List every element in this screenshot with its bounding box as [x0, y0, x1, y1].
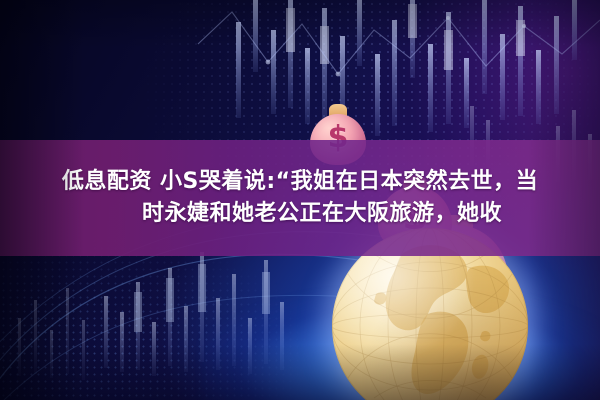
- edge-vignette: [0, 0, 600, 400]
- banner-image: $ $: [0, 0, 600, 400]
